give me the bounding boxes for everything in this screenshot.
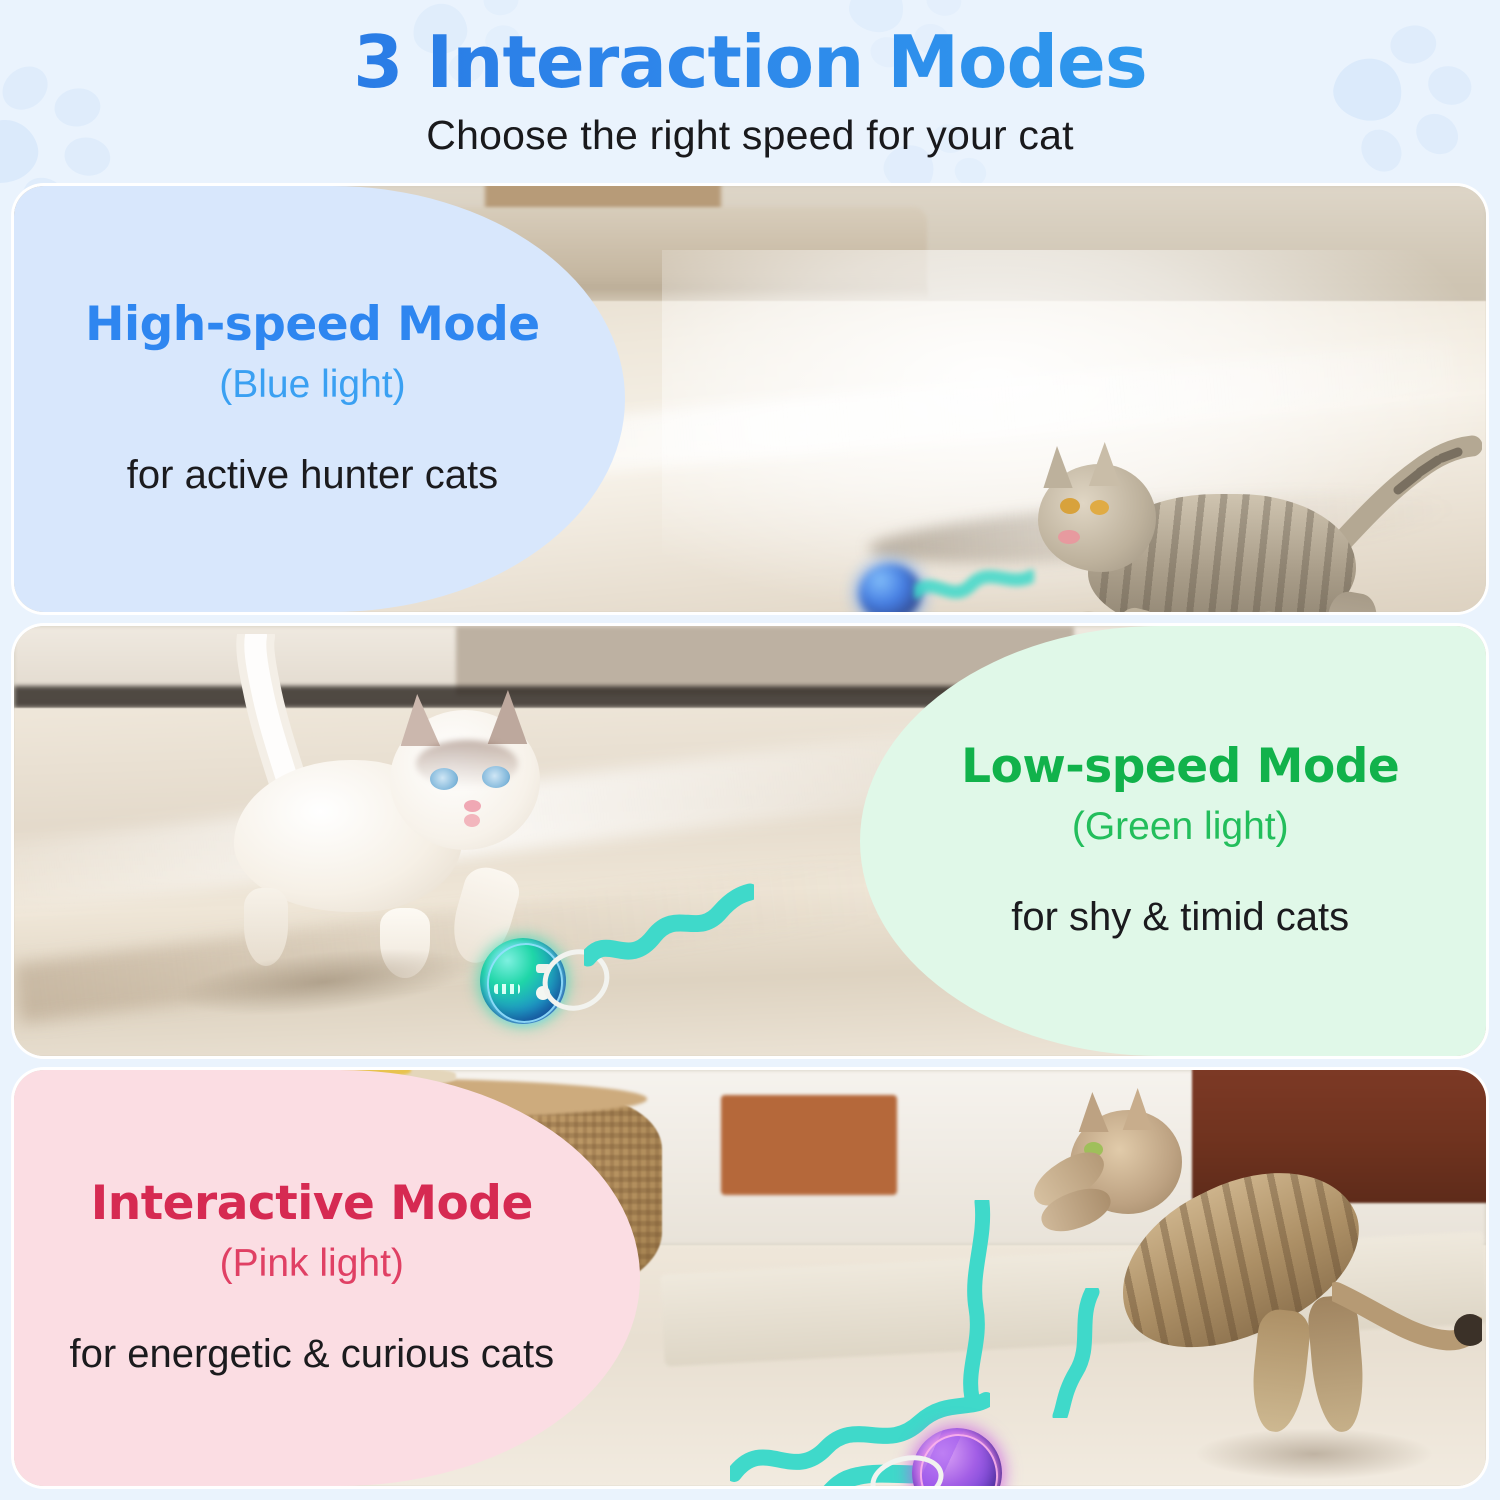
- toy-feather-tail: [584, 878, 754, 974]
- toy-feather-tail: [942, 1200, 1012, 1400]
- cat-ear-right: [1120, 1088, 1154, 1130]
- mode-description-high-speed: for active hunter cats: [127, 453, 498, 498]
- cat-eye: [430, 768, 458, 790]
- ball-led-marks: [494, 984, 520, 994]
- toy-ball-motion-ghost: [859, 564, 921, 612]
- cat-ear-left: [1040, 446, 1074, 488]
- page-header: 3 Interaction Modes Choose the right spe…: [0, 0, 1500, 182]
- cat-gray-tabby: [992, 426, 1486, 612]
- mode-card-low-speed: Low-speed Mode (Green light) for shy & t…: [860, 626, 1486, 1056]
- cat-tail: [1332, 434, 1482, 554]
- page-subtitle: Choose the right speed for your cat: [0, 98, 1500, 159]
- mode-title-high-speed: High-speed Mode: [85, 300, 540, 349]
- mode-light-label-interactive: (Pink light): [220, 1242, 404, 1286]
- mode-panel-interactive: Interactive Mode (Pink light) for energe…: [14, 1070, 1486, 1486]
- mode-light-label-low-speed: (Green light): [1072, 805, 1289, 849]
- cat-eye: [1090, 500, 1109, 515]
- cat-mouth: [464, 814, 480, 827]
- cat-mouth: [1058, 530, 1080, 544]
- cat-shadow: [1194, 1428, 1434, 1480]
- cat-nose: [464, 800, 481, 812]
- mode-panel-high-speed: High-speed Mode (Blue light) for active …: [14, 186, 1486, 612]
- page-title: 3 Interaction Modes: [0, 0, 1500, 98]
- cat-shadow: [172, 936, 477, 1027]
- mode-title-interactive: Interactive Mode: [91, 1179, 533, 1228]
- cat-eye: [482, 766, 510, 788]
- mode-description-low-speed: for shy & timid cats: [1011, 895, 1349, 940]
- cat-back-leg: [244, 888, 288, 966]
- mode-card-interactive: Interactive Mode (Pink light) for energe…: [14, 1070, 640, 1486]
- mode-panel-low-speed: Low-speed Mode (Green light) for shy & t…: [14, 626, 1486, 1056]
- cat-brown-tabby: [1044, 1088, 1474, 1486]
- cat-ear-left: [1076, 1092, 1110, 1132]
- cat-eye: [1060, 498, 1080, 514]
- cat-tail: [1332, 1278, 1482, 1368]
- scene-bag: [721, 1095, 898, 1195]
- mode-title-low-speed: Low-speed Mode: [961, 742, 1399, 791]
- mode-description-interactive: for energetic & curious cats: [69, 1332, 554, 1377]
- mode-light-label-high-speed: (Blue light): [219, 363, 405, 407]
- cat-front-leg: [1034, 605, 1116, 612]
- mode-card-high-speed: High-speed Mode (Blue light) for active …: [14, 186, 625, 612]
